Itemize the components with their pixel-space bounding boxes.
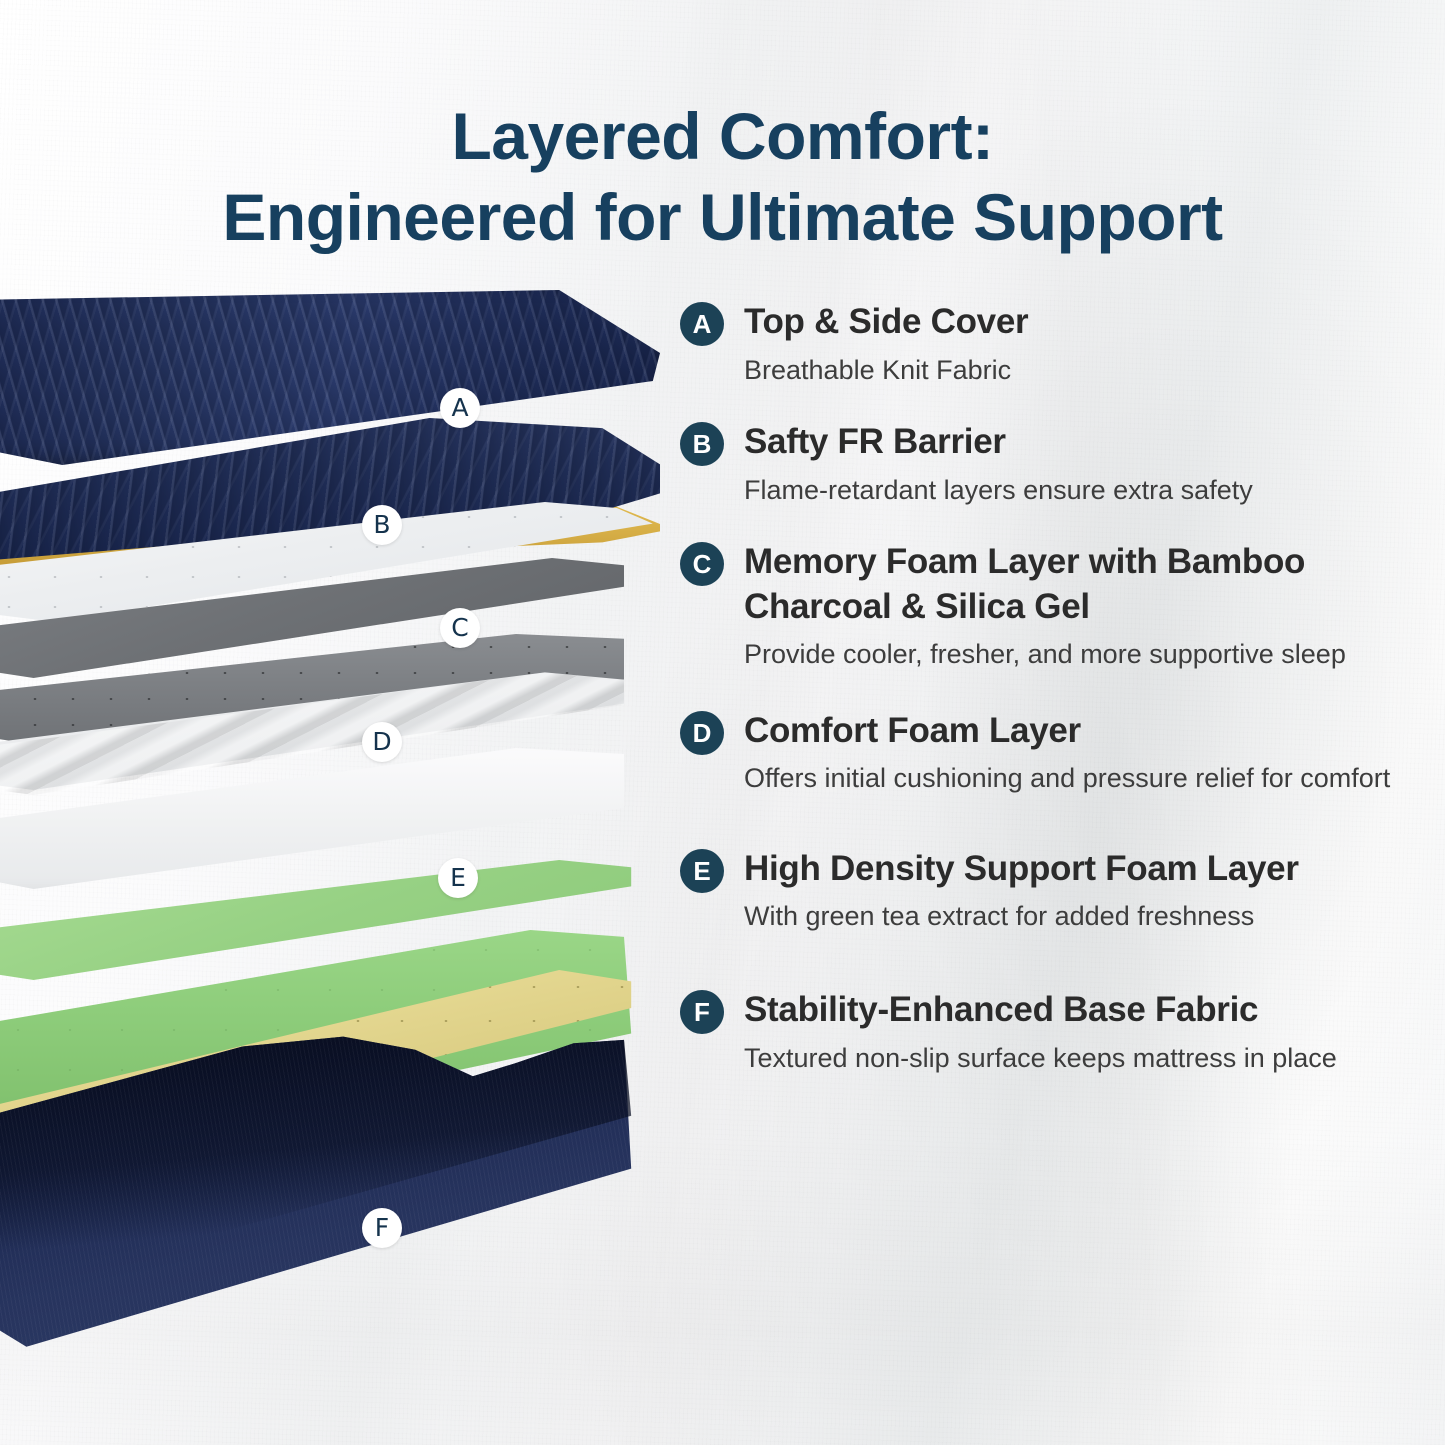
diagram-marker-d: D — [362, 722, 402, 762]
feature-desc-b: Flame-retardant layers ensure extra safe… — [744, 471, 1425, 510]
feature-badge-a: A — [680, 302, 724, 346]
feature-title-a: Top & Side Cover — [744, 300, 1425, 345]
feature-text-f: Stability-Enhanced Base Fabric Textured … — [744, 988, 1425, 1078]
feature-list: A Top & Side Cover Breathable Knit Fabri… — [680, 300, 1425, 1108]
feature-title-c: Memory Foam Layer with Bamboo Charcoal &… — [744, 540, 1425, 630]
mattress-exploded-diagram: A B C D E F — [0, 270, 660, 1400]
diagram-marker-b: B — [362, 505, 402, 545]
feature-desc-d: Offers initial cushioning and pressure r… — [744, 759, 1425, 798]
feature-badge-d: D — [680, 711, 724, 755]
feature-title-e: High Density Support Foam Layer — [744, 847, 1425, 892]
feature-item-a: A Top & Side Cover Breathable Knit Fabri… — [680, 300, 1425, 390]
feature-text-e: High Density Support Foam Layer With gre… — [744, 847, 1425, 937]
base-fabric-weave-texture — [0, 1030, 660, 1360]
diagram-marker-c: C — [440, 608, 480, 648]
infographic-page: Layered Comfort: Engineered for Ultimate… — [0, 0, 1445, 1445]
feature-item-e: E High Density Support Foam Layer With g… — [680, 847, 1425, 937]
feature-badge-c: C — [680, 542, 724, 586]
feature-desc-c: Provide cooler, fresher, and more suppor… — [744, 635, 1425, 674]
feature-text-b: Safty FR Barrier Flame-retardant layers … — [744, 420, 1425, 510]
title-line-1: Layered Comfort: — [451, 99, 993, 173]
feature-title-f: Stability-Enhanced Base Fabric — [744, 988, 1425, 1033]
feature-text-a: Top & Side Cover Breathable Knit Fabric — [744, 300, 1425, 390]
feature-desc-e: With green tea extract for added freshne… — [744, 897, 1425, 936]
diagram-marker-e: E — [438, 858, 478, 898]
feature-badge-e: E — [680, 849, 724, 893]
feature-title-b: Safty FR Barrier — [744, 420, 1425, 465]
feature-text-d: Comfort Foam Layer Offers initial cushio… — [744, 709, 1425, 799]
feature-desc-a: Breathable Knit Fabric — [744, 351, 1425, 390]
feature-item-d: D Comfort Foam Layer Offers initial cush… — [680, 709, 1425, 799]
diagram-marker-f: F — [362, 1208, 402, 1248]
feature-badge-b: B — [680, 422, 724, 466]
feature-desc-f: Textured non-slip surface keeps mattress… — [744, 1039, 1425, 1078]
diagram-marker-a: A — [440, 388, 480, 428]
feature-badge-f: F — [680, 990, 724, 1034]
feature-item-f: F Stability-Enhanced Base Fabric Texture… — [680, 988, 1425, 1078]
feature-text-c: Memory Foam Layer with Bamboo Charcoal &… — [744, 540, 1425, 675]
feature-item-c: C Memory Foam Layer with Bamboo Charcoal… — [680, 540, 1425, 675]
title-line-2: Engineered for Ultimate Support — [0, 177, 1445, 258]
feature-item-b: B Safty FR Barrier Flame-retardant layer… — [680, 420, 1425, 510]
layer-base-fabric — [0, 1030, 660, 1360]
page-title: Layered Comfort: Engineered for Ultimate… — [0, 96, 1445, 257]
feature-title-d: Comfort Foam Layer — [744, 709, 1425, 754]
